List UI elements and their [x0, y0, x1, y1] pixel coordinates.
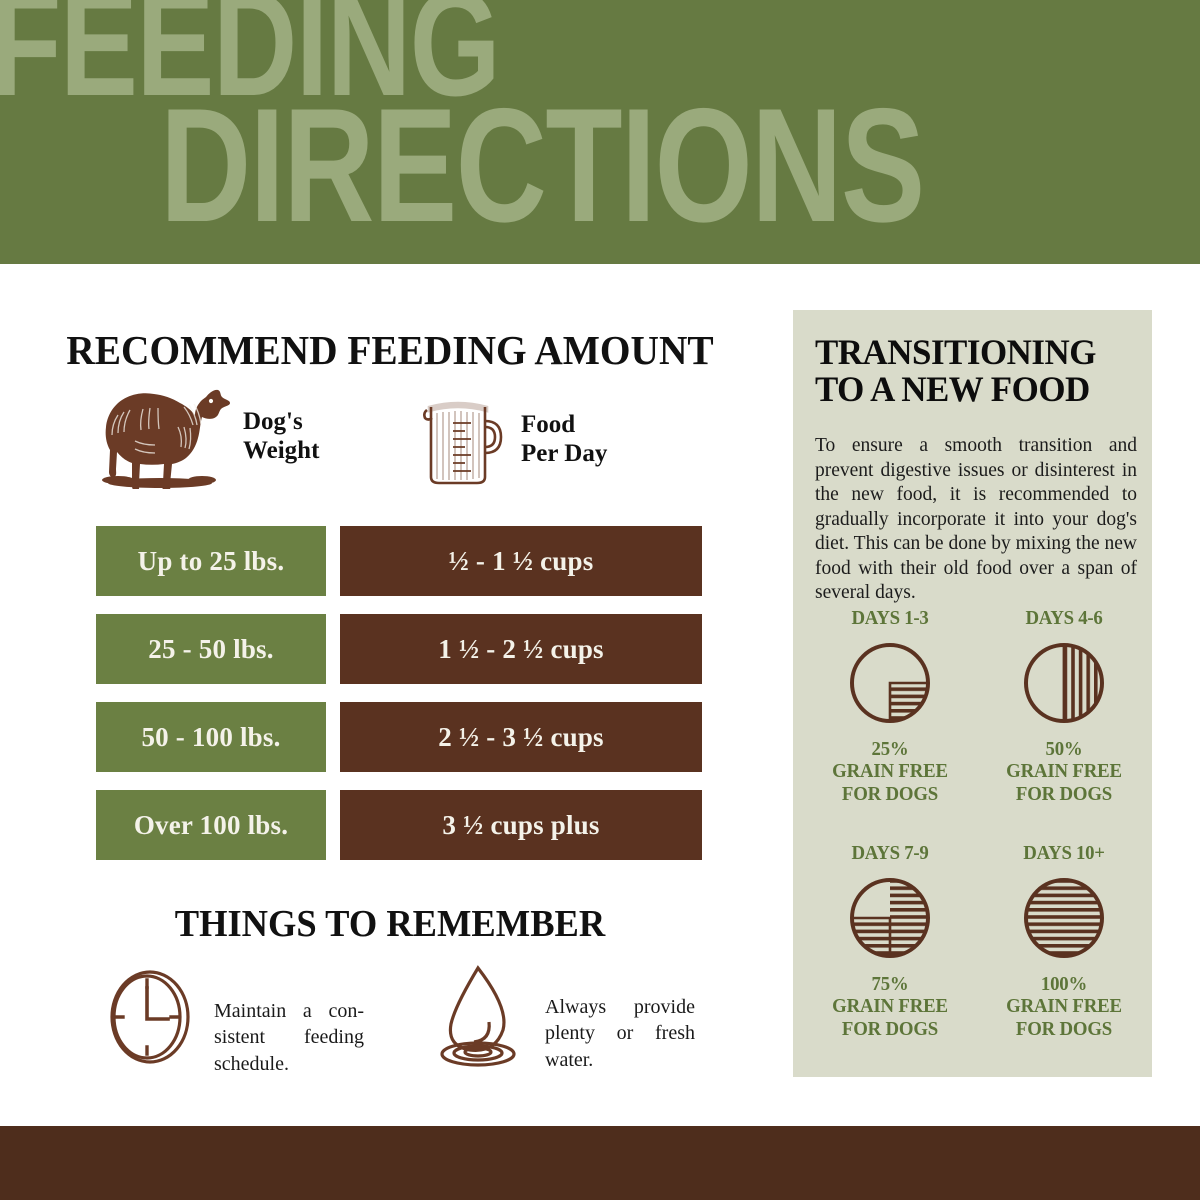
dog-icon — [88, 379, 233, 494]
table-row: Over 100 lbs. 3 ½ cups plus — [0, 790, 780, 860]
food-cell: 2 ½ - 3 ½ cups — [340, 702, 702, 772]
food-cell: 1 ½ - 2 ½ cups — [340, 614, 702, 684]
footer-bar — [0, 1126, 1200, 1200]
pie-chart-75 — [844, 872, 936, 964]
remember-text-water: Always provide plenty or fresh water. — [545, 994, 695, 1073]
food-per-day-label: Food Per Day — [521, 411, 607, 469]
transition-body-text: To ensure a smooth transition and preven… — [815, 434, 1137, 606]
remember-item-schedule: Maintain a con-sistent feeding schedule. — [100, 964, 364, 1077]
food-cell: 3 ½ cups plus — [340, 790, 702, 860]
table-row: 25 - 50 lbs. 1 ½ - 2 ½ cups — [0, 614, 780, 684]
pie-chart-25 — [844, 637, 936, 729]
table-row: Up to 25 lbs. ½ - 1 ½ cups — [0, 526, 780, 596]
weight-cell: 25 - 50 lbs. — [96, 614, 326, 684]
pie-caption: 50% GRAIN FREE FOR DOGS — [982, 738, 1146, 805]
weight-cell: 50 - 100 lbs. — [96, 702, 326, 772]
pie-caption: 100% GRAIN FREE FOR DOGS — [982, 973, 1146, 1040]
transition-panel: TRANSITIONING TO A NEW FOOD To ensure a … — [793, 310, 1152, 1077]
weight-cell: Up to 25 lbs. — [96, 526, 326, 596]
things-to-remember-items: Maintain a con-sistent feeding schedule.… — [0, 964, 780, 1094]
weight-cell: Over 100 lbs. — [96, 790, 326, 860]
day-range-label: DAYS 4-6 — [982, 607, 1146, 630]
dogs-weight-header: Dog's Weight — [88, 379, 319, 494]
day-range-label: DAYS 10+ — [982, 842, 1146, 865]
water-drop-icon — [425, 960, 531, 1077]
pie-chart-100 — [1018, 872, 1110, 964]
remember-text-schedule: Maintain a con-sistent feeding schedule. — [214, 998, 364, 1077]
remember-item-water: Always provide plenty or fresh water. — [425, 960, 695, 1077]
table-column-headers: Dog's Weight — [0, 379, 780, 499]
transition-step-card: DAYS 10+ 100% GRAIN FREE FOR DOGS — [977, 842, 1151, 1040]
pie-caption: 25% GRAIN FREE FOR DOGS — [808, 738, 972, 805]
day-range-label: DAYS 7-9 — [808, 842, 972, 865]
header-band: FEEDING DIRECTIONS — [0, 0, 1200, 264]
transition-title: TRANSITIONING TO A NEW FOOD — [815, 334, 1125, 407]
feeding-amount-section: RECOMMEND FEEDING AMOUNT — [0, 264, 780, 1124]
transition-step-card: DAYS 4-6 50% GRAIN FREE FOR DOGS — [977, 607, 1151, 805]
dogs-weight-label: Dog's Weight — [243, 408, 319, 466]
transition-step-card: DAYS 1-3 25% GRAIN FREE FO — [803, 607, 977, 805]
transition-step-card: DAYS 7-9 75% GRAIN FREE FOR DOGS — [803, 842, 977, 1040]
feeding-amount-table: Up to 25 lbs. ½ - 1 ½ cups 25 - 50 lbs. … — [0, 526, 780, 878]
pie-caption: 75% GRAIN FREE FOR DOGS — [808, 973, 972, 1040]
table-row: 50 - 100 lbs. 2 ½ - 3 ½ cups — [0, 702, 780, 772]
header-title-line2: DIRECTIONS — [160, 100, 924, 233]
things-to-remember-title: THINGS TO REMEMBER — [54, 902, 726, 946]
day-range-label: DAYS 1-3 — [808, 607, 972, 630]
pie-chart-50 — [1018, 637, 1110, 729]
clock-icon — [100, 964, 200, 1075]
food-cell: ½ - 1 ½ cups — [340, 526, 702, 596]
measuring-cup-icon — [415, 385, 511, 494]
food-per-day-header: Food Per Day — [415, 385, 607, 494]
recommend-feeding-title: RECOMMEND FEEDING AMOUNT — [54, 326, 726, 374]
